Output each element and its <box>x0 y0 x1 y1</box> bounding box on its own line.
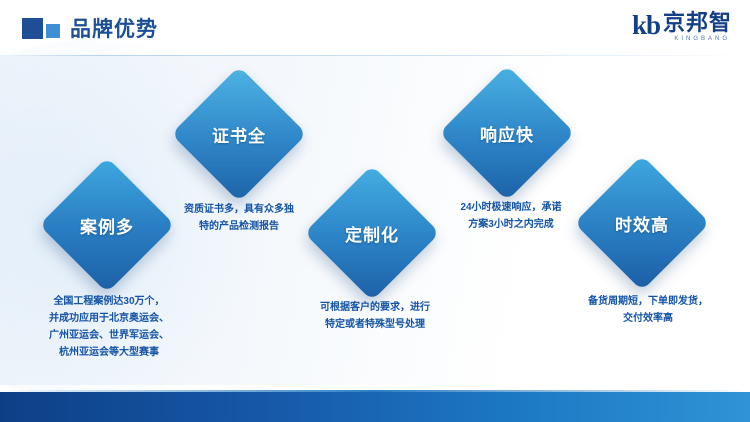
page-title: 品牌优势 <box>70 13 158 43</box>
diamond-certificates: 证书全 <box>171 66 307 202</box>
caption-fast-response: 24小时极速响应，承诺 方案3小时之内完成 <box>428 199 594 233</box>
slide-footer <box>0 392 750 422</box>
header-square-dark-icon <box>22 18 43 39</box>
brand-logo: kb 京邦智 <box>632 12 732 46</box>
logo-latin-text: kb <box>632 12 660 39</box>
diamond-label-customization: 定制化 <box>324 185 420 281</box>
header-square-light-icon <box>46 24 60 38</box>
caption-efficiency: 备货周期短，下单即发货， 交付效率高 <box>558 293 738 327</box>
slide: 品牌优势 kb 京邦智 KINGBANG 案例多 证书全 定制化 响应快 时效高… <box>0 0 750 422</box>
caption-certificates: 资质证书多，具有众多独 特的产品检测报告 <box>154 201 324 235</box>
caption-customization: 可根据客户的要求，进行 特定或者特殊型号处理 <box>290 299 460 333</box>
diamond-customization: 定制化 <box>304 165 440 301</box>
diamond-efficiency: 时效高 <box>574 155 710 291</box>
header-divider <box>0 55 750 56</box>
logo-chinese-text: 京邦智 <box>663 12 732 34</box>
diamond-label-case-count: 案例多 <box>59 177 155 273</box>
diamond-label-efficiency: 时效高 <box>594 175 690 271</box>
caption-case-count: 全国工程案例达30万个， 并成功应用于北京奥运会、 广州亚运会、世界军运会、 杭… <box>14 293 204 361</box>
diamond-fast-response: 响应快 <box>439 65 575 201</box>
diamond-label-certificates: 证书全 <box>191 86 287 182</box>
diamond-label-fast-response: 响应快 <box>459 85 555 181</box>
